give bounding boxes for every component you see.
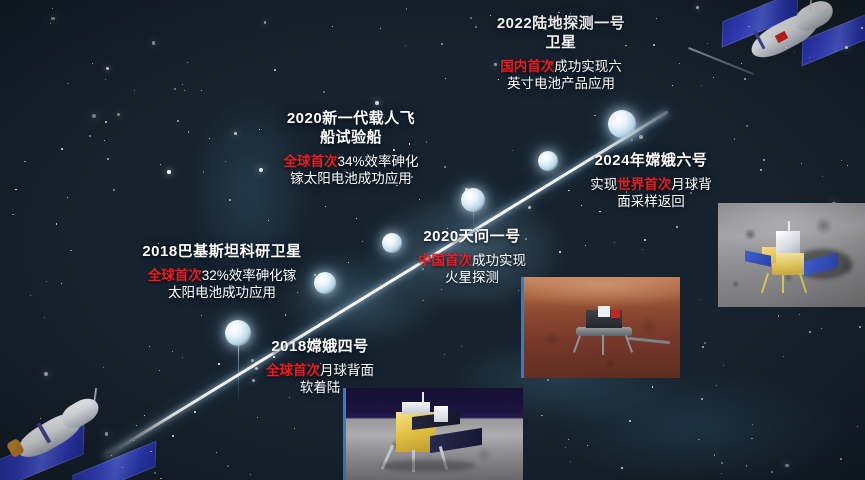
photo-chang-e-4-lander <box>343 388 523 480</box>
lander-upper-stage <box>776 231 800 253</box>
rover-platform <box>576 327 632 336</box>
rover-panel-white <box>598 306 610 317</box>
photo-tianwen-1-lander <box>521 277 680 378</box>
instrument-white <box>434 406 448 422</box>
landing-leg <box>602 335 604 355</box>
rover-flag <box>611 310 620 318</box>
antenna-mast <box>788 221 790 233</box>
lander-top-box <box>402 402 430 414</box>
antenna-mast <box>422 392 424 404</box>
landing-leg <box>782 275 784 293</box>
photo-chang-e-6-lander <box>718 203 865 307</box>
photo-layer <box>0 0 865 480</box>
lander-body <box>772 253 804 275</box>
lander-shadow <box>380 460 476 472</box>
infographic-canvas: 2018嫦娥四号全球首次月球背面 软着陆2018巴基斯坦科研卫星全球首次32%效… <box>0 0 865 480</box>
